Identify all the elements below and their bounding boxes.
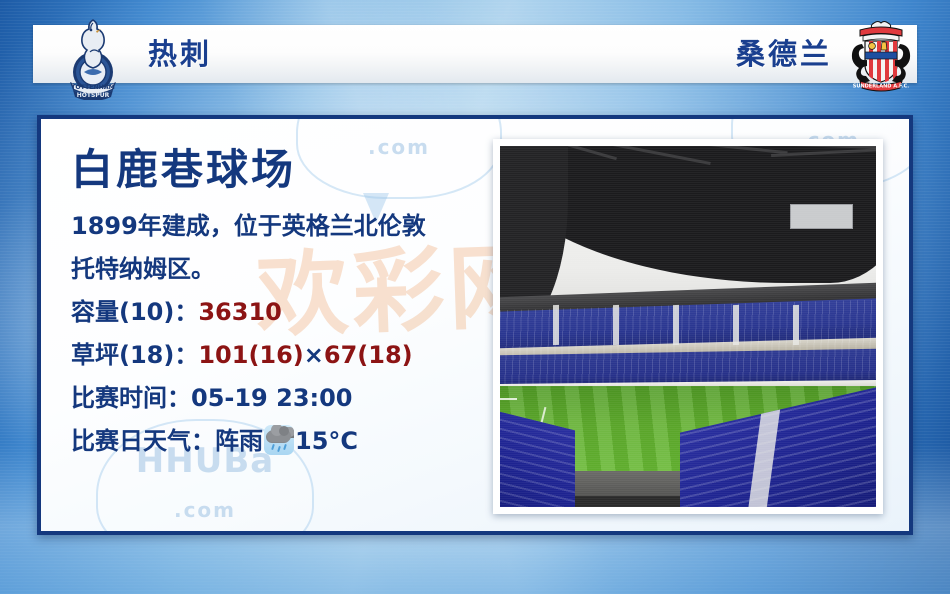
watermark-brand-text: HHUBa	[298, 115, 500, 122]
home-team-name: 热刺	[148, 30, 212, 78]
stadium-title: 白鹿巷球场	[71, 141, 501, 199]
sunderland-afc-crest: SUNDERLAND A.F.C.	[838, 18, 924, 92]
match-header: TOTTENHAM HOTSPUR 热刺 桑德兰 SUNDERLAND A.F.…	[0, 0, 950, 110]
svg-text:HOTSPUR: HOTSPUR	[77, 92, 110, 99]
pitch-length-value: 101(16)	[198, 341, 303, 369]
pitch-dimension-separator: ×	[304, 341, 324, 369]
pitch-width-value: 67(18)	[324, 341, 413, 369]
match-time-row: 比赛时间：05-19 23:00	[71, 377, 501, 420]
watermark-brand-text: HHUBa	[733, 115, 913, 117]
stadium-info-column: 白鹿巷球场 1899年建成，位于英格兰北伦敦 托特纳姆区。 容量(10)：363…	[71, 141, 501, 463]
capacity-label: 容量(10)：	[71, 298, 198, 326]
white-hart-lane-stadium-photo	[500, 146, 876, 507]
match-time-label: 比赛时间：	[71, 384, 191, 412]
shower-rain-icon	[264, 425, 294, 455]
pitch-label: 草坪(18)：	[71, 341, 198, 369]
weather-condition-value: 阵雨	[215, 427, 263, 455]
stadium-photo-frame	[493, 139, 883, 514]
pitch-row: 草坪(18)：101(16)×67(18)	[71, 334, 501, 377]
away-team-name: 桑德兰	[736, 30, 832, 78]
match-weather-row: 比赛日天气：阵雨15°C	[71, 420, 501, 463]
match-weather-label: 比赛日天气：	[71, 427, 215, 455]
svg-text:TOTTENHAM: TOTTENHAM	[71, 84, 115, 91]
photo-grain-overlay	[500, 146, 876, 507]
watermark-domain-text: .com	[98, 498, 312, 522]
stadium-description-line-2: 托特纳姆区。	[71, 248, 501, 291]
match-time-value: 05-19 23:00	[191, 384, 353, 412]
tottenham-hotspur-crest: TOTTENHAM HOTSPUR	[60, 12, 126, 100]
weather-temperature-value: 15°C	[295, 427, 358, 455]
stadium-description-line-1: 1899年建成，位于英格兰北伦敦	[71, 205, 501, 248]
capacity-value: 36310	[198, 298, 282, 326]
stadium-info-panel: HHUBa .com HHUBa .com HHUBa .com 欢彩网 欢呼吧…	[37, 115, 913, 535]
svg-text:SUNDERLAND A.F.C.: SUNDERLAND A.F.C.	[853, 84, 910, 90]
capacity-row: 容量(10)：36310	[71, 291, 501, 334]
